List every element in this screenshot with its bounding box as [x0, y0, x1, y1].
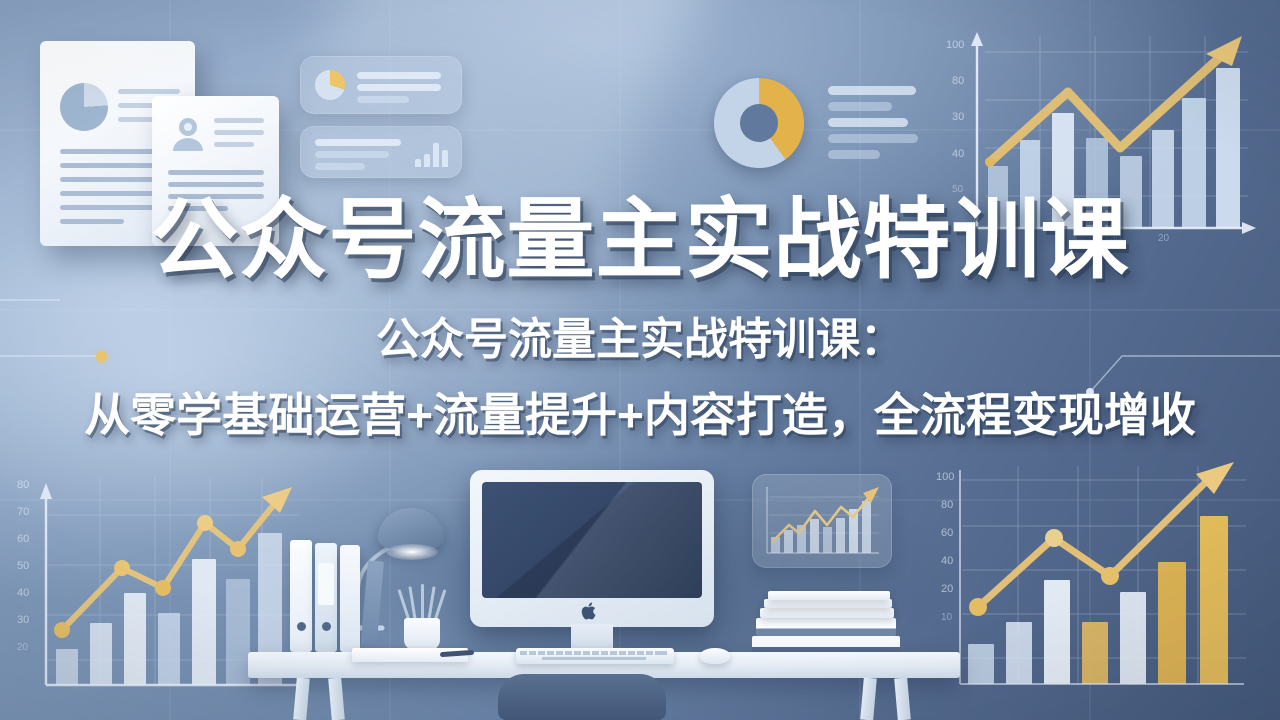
vignette	[0, 0, 1280, 720]
course-banner: 100 80 30 40 50 30 20 公众号流量主实战特训课 公众号流量主…	[0, 0, 1280, 720]
